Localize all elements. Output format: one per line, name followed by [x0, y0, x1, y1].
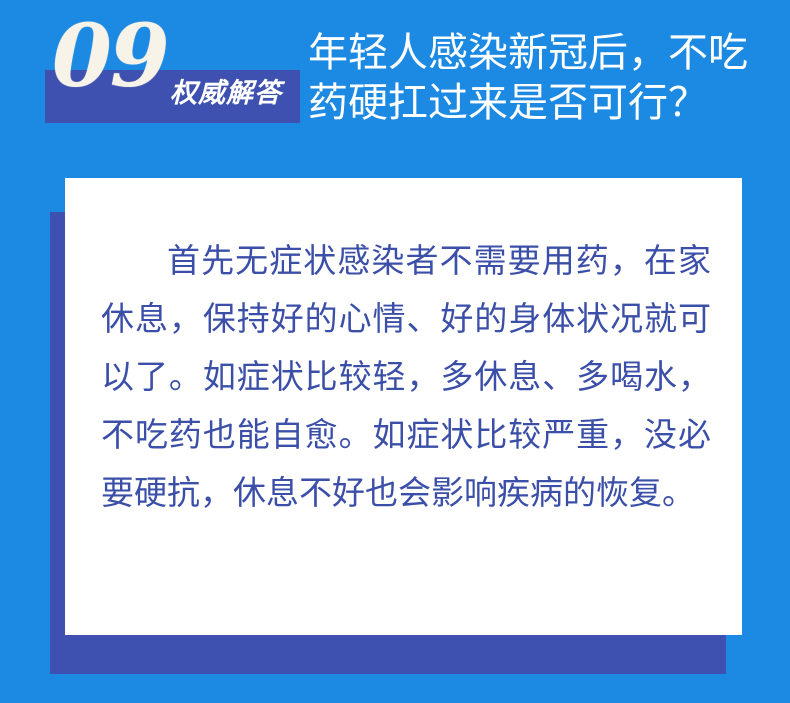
content-card: 首先无症状感染者不需要用药，在家休息，保持好的心情、好的身体状况就可以了。如症状…: [65, 178, 742, 635]
card-accent-left: [50, 212, 66, 674]
poster-root: 09 权威解答 年轻人感染新冠后，不吃药硬扛过来是否可行？ 首先无症状感染者不需…: [0, 0, 790, 703]
badge-label: 权威解答: [170, 77, 282, 111]
badge-number: 09: [52, 14, 168, 100]
card-body-text: 首先无症状感染者不需要用药，在家休息，保持好的心情、好的身体状况就可以了。如症状…: [101, 232, 711, 522]
page-title: 年轻人感染新冠后，不吃药硬扛过来是否可行？: [308, 28, 758, 128]
poster-header: 09 权威解答 年轻人感染新冠后，不吃药硬扛过来是否可行？: [0, 0, 790, 178]
card-accent-bottom: [50, 635, 726, 674]
